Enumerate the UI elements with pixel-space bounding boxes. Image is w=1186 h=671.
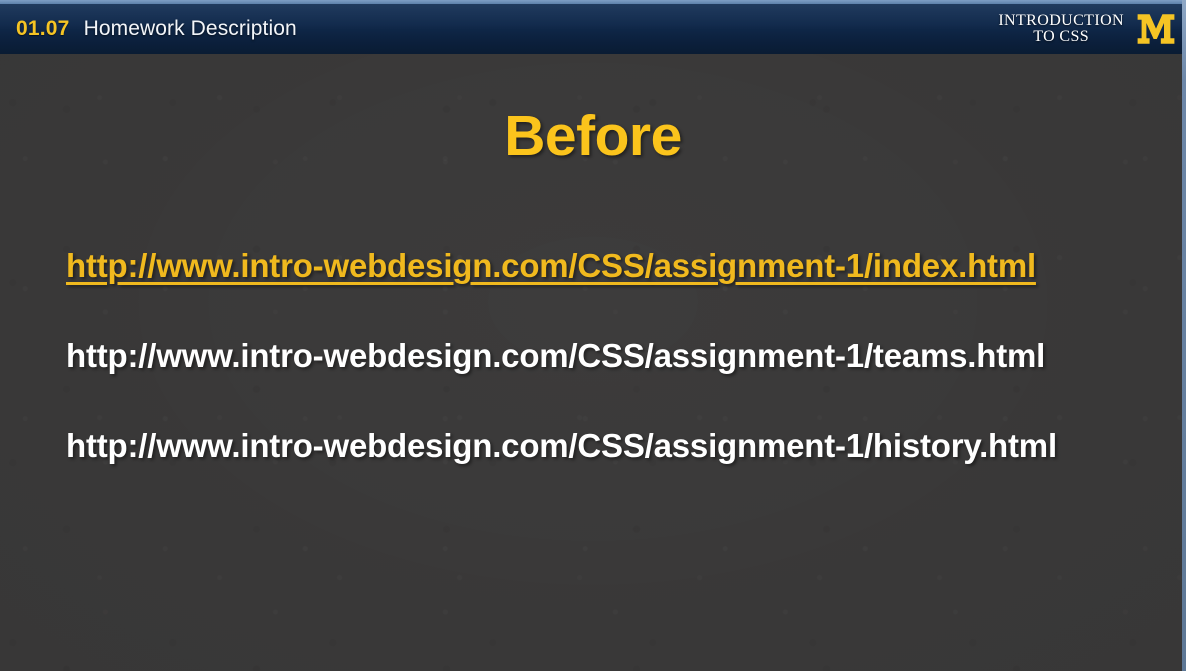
header-left-group: 01.07 Homework Description	[16, 4, 297, 54]
header-right-group: INTRODUCTION TO CSS	[998, 4, 1176, 54]
slide-header-bar: 01.07 Homework Description INTRODUCTION …	[0, 0, 1186, 54]
url-link-index[interactable]: http://www.intro-webdesign.com/CSS/assig…	[0, 247, 1186, 285]
course-name: INTRODUCTION TO CSS	[998, 13, 1124, 46]
michigan-m-logo-icon	[1136, 11, 1176, 47]
url-list: http://www.intro-webdesign.com/CSS/assig…	[0, 247, 1186, 465]
url-text-history: http://www.intro-webdesign.com/CSS/assig…	[0, 427, 1186, 465]
course-name-line-1: INTRODUCTION	[998, 12, 1124, 29]
slide-right-border	[1182, 0, 1186, 671]
lesson-number: 01.07	[16, 17, 70, 41]
slide-heading: Before	[0, 103, 1186, 169]
url-text-teams: http://www.intro-webdesign.com/CSS/assig…	[0, 337, 1186, 375]
slide-canvas: 01.07 Homework Description INTRODUCTION …	[0, 0, 1186, 671]
page-title: Homework Description	[84, 17, 297, 41]
course-name-line-2: TO CSS	[998, 29, 1124, 45]
